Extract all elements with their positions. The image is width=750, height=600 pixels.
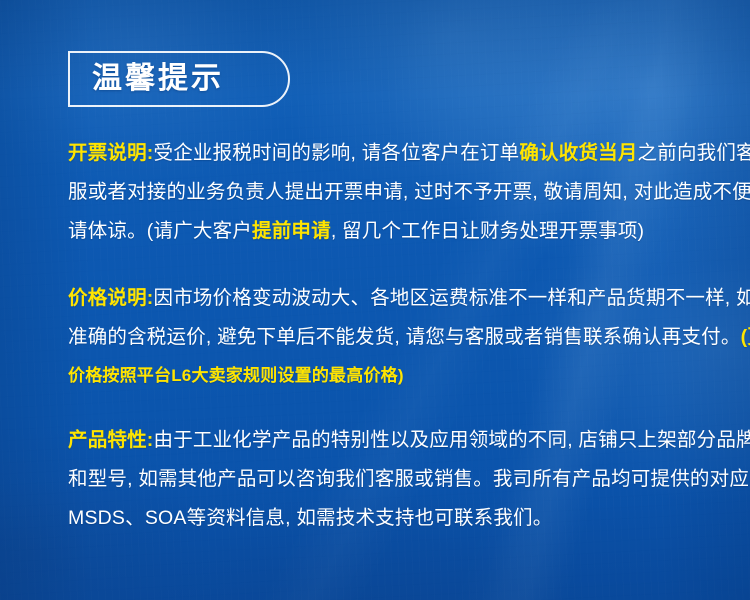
note-text: (页面: [741, 326, 750, 348]
body-text: 服或者对接的业务负责人提出开票申请, 过时不予开票, 敬请周知, 对此造成不便: [68, 181, 750, 203]
notice-line: 产品特性:由于工业化学产品的特别性以及应用领域的不同, 店铺只上架部分品牌: [68, 421, 708, 460]
notice-line: 价格按照平台L6大卖家规则设置的最高价格): [68, 357, 708, 395]
promo-notice-poster: 温馨提示 开票说明:受企业报税时间的影响, 请各位客户在订单确认收货当月之前向我…: [0, 0, 750, 600]
notice-line: 开票说明:受企业报税时间的影响, 请各位客户在订单确认收货当月之前向我们客: [68, 134, 708, 173]
notice-badge-frame: 温馨提示: [68, 51, 290, 107]
body-text: 和型号, 如需其他产品可以咨询我们客服或销售。我司所有产品均可提供的对应的: [68, 468, 750, 490]
body-text: 因市场价格变动波动大、各地区运费标准不一样和产品货期不一样, 如需: [154, 287, 750, 309]
notice-section-invoice: 开票说明:受企业报税时间的影响, 请各位客户在订单确认收货当月之前向我们客服或者…: [68, 134, 708, 251]
notice-line: MSDS、SOA等资料信息, 如需技术支持也可联系我们。: [68, 499, 708, 538]
highlighted-text: 提前申请: [252, 220, 331, 242]
body-text: 受企业报税时间的影响, 请各位客户在订单: [154, 142, 520, 164]
section-spacer: [68, 395, 708, 421]
body-text: 请体谅。(请广大客户: [68, 220, 252, 242]
notice-badge: 温馨提示: [68, 51, 290, 107]
body-text: 准确的含税运价, 避免下单后不能发货, 请您与客服或者销售联系确认再支付。: [68, 326, 741, 348]
notice-sections: 开票说明:受企业报税时间的影响, 请各位客户在订单确认收货当月之前向我们客服或者…: [68, 134, 708, 538]
notice-section-price: 价格说明:因市场价格变动波动大、各地区运费标准不一样和产品货期不一样, 如需准确…: [68, 279, 708, 395]
section-spacer: [68, 251, 708, 279]
body-text: 由于工业化学产品的特别性以及应用领域的不同, 店铺只上架部分品牌: [154, 429, 750, 451]
notice-line: 服或者对接的业务负责人提出开票申请, 过时不予开票, 敬请周知, 对此造成不便: [68, 173, 708, 212]
section-label-product: 产品特性:: [68, 429, 154, 451]
notice-line: 和型号, 如需其他产品可以咨询我们客服或销售。我司所有产品均可提供的对应的: [68, 460, 708, 499]
notice-section-product: 产品特性:由于工业化学产品的特别性以及应用领域的不同, 店铺只上架部分品牌和型号…: [68, 421, 708, 538]
note-text: 价格按照平台L6大卖家规则设置的最高价格): [68, 366, 404, 385]
notice-line: 准确的含税运价, 避免下单后不能发货, 请您与客服或者销售联系确认再支付。(页面: [68, 318, 708, 357]
notice-line: 价格说明:因市场价格变动波动大、各地区运费标准不一样和产品货期不一样, 如需: [68, 279, 708, 318]
section-label-price: 价格说明:: [68, 287, 154, 309]
body-text: MSDS、SOA等资料信息, 如需技术支持也可联系我们。: [68, 507, 552, 529]
notice-line: 请体谅。(请广大客户提前申请, 留几个工作日让财务处理开票事项): [68, 212, 708, 251]
page-title: 温馨提示: [92, 64, 224, 94]
body-text: 之前向我们客: [638, 142, 750, 164]
section-label-invoice: 开票说明:: [68, 142, 154, 164]
body-text: , 留几个工作日让财务处理开票事项): [331, 220, 644, 242]
highlighted-text: 确认收货当月: [519, 142, 637, 164]
